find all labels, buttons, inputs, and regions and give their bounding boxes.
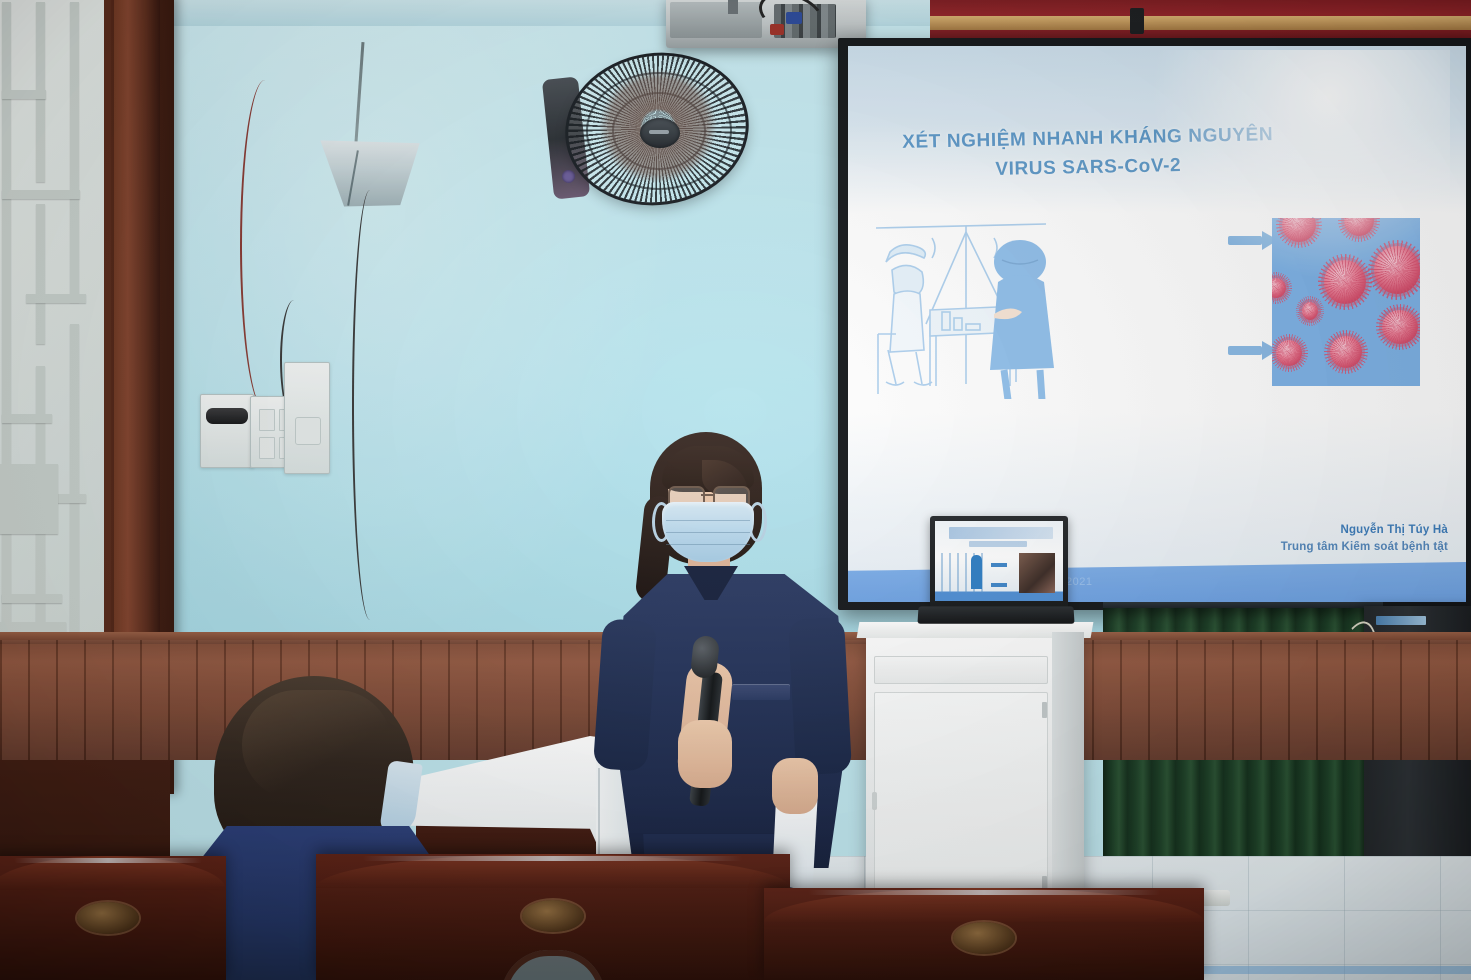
presenter-hand-on-mic [678, 720, 732, 788]
laptop-slide-subtitle-bar [969, 541, 1027, 547]
wall-outlet-panel[interactable] [284, 362, 330, 474]
podium-door-handle[interactable] [872, 792, 877, 810]
podium-hinge-top [1042, 702, 1047, 718]
laptop-base [917, 606, 1074, 623]
wooden-chair-back-right[interactable] [764, 888, 1204, 980]
wooden-chair-back-left[interactable] [0, 856, 226, 980]
podium-side-panel [1052, 632, 1084, 922]
presenter-speaking [596, 430, 856, 910]
projector-ceiling-mount [728, 0, 738, 14]
laptop-slide-figure [971, 555, 982, 589]
chair-highlight [808, 890, 1160, 895]
wooden-beam [930, 16, 1471, 30]
slide-title: XÉT NGHIỆM NHANH KHÁNG NGUYÊN VIRUS SARS… [847, 119, 1328, 188]
slide-presenter-name: Nguyễn Thị Túy Hà [1281, 522, 1448, 539]
podium-drawer[interactable] [874, 656, 1048, 684]
slide-presenter-org: Trung tâm Kiểm soát bệnh tật [1281, 539, 1448, 556]
glasses-bridge [701, 494, 713, 496]
chair-medallion [522, 900, 584, 932]
beam-clip [1130, 8, 1144, 34]
ceiling-projector [666, 0, 866, 48]
chair-highlight [14, 858, 203, 863]
fan-pivot-knob [561, 169, 575, 183]
projector-red-button[interactable] [770, 24, 784, 35]
laptop-slide-virus-thumb [1019, 553, 1055, 593]
chair-back-opening [501, 950, 605, 980]
presentation-room-photo: XÉT NGHIỆM NHANH KHÁNG NGUYÊN VIRUS SARS… [0, 0, 1471, 980]
slide-presenter-credit: Nguyễn Thị Túy Hà Trung tâm Kiểm soát bệ… [1281, 522, 1448, 557]
presenter-sleeve-right [788, 617, 852, 776]
presenter-chest-pocket [732, 684, 790, 700]
chair-highlight [363, 856, 742, 861]
wall-wire-black [352, 190, 388, 620]
presenter-hand-right [772, 758, 818, 814]
light-switch-panel[interactable] [200, 394, 254, 468]
laptop-slide-title-bar [949, 527, 1053, 539]
fan-hub [640, 118, 680, 148]
projector-body-panel [670, 2, 762, 38]
cabinet-label [1376, 616, 1426, 625]
white-podium-cabinet[interactable] [866, 632, 1084, 922]
laptop-screen [935, 521, 1063, 601]
arrow-right-icon [1228, 236, 1262, 245]
projector-blue-connector [786, 12, 802, 24]
virus-micrograph-image [1272, 218, 1420, 386]
laptop-slide-arrow-top [991, 563, 1007, 567]
chair-medallion [953, 922, 1015, 954]
wooden-chair-back-center[interactable] [316, 854, 790, 980]
laptop-slide-arrow-bottom [991, 583, 1007, 587]
slide-illustration [870, 214, 1220, 399]
podium-door[interactable] [874, 692, 1048, 908]
plug-adapter [206, 408, 248, 424]
chair-medallion [77, 902, 139, 934]
presenter-sleeve-left [593, 618, 657, 771]
